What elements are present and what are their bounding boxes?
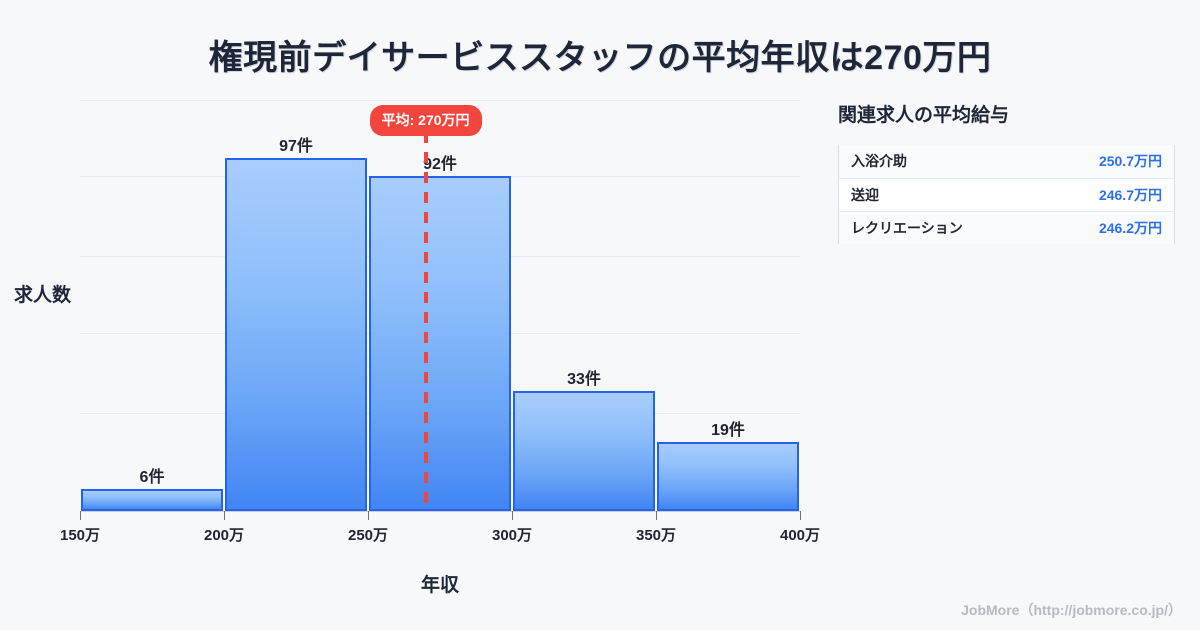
x-axis-tick	[224, 511, 225, 520]
plot-area: 6件97件92件33件19件	[80, 100, 800, 511]
salary-row-value: 246.7万円	[1043, 178, 1174, 211]
x-axis-tick	[800, 511, 801, 520]
x-axis-tick-label: 350万	[636, 524, 676, 545]
x-axis-line	[80, 511, 800, 512]
histogram-bar[interactable]	[657, 442, 799, 511]
bar-value-label: 19件	[711, 416, 745, 440]
salary-row-name: レクリエーション	[839, 211, 1044, 244]
x-axis-tick	[80, 511, 81, 520]
table-row[interactable]: 送迎246.7万円	[839, 178, 1175, 211]
related-salary-table: 入浴介助250.7万円送迎246.7万円レクリエーション246.2万円	[838, 145, 1175, 244]
average-marker-badge: 平均: 270万円	[370, 105, 482, 136]
x-axis-tick	[512, 511, 513, 520]
salary-row-value: 246.2万円	[1043, 211, 1174, 244]
related-salary-panel: 関連求人の平均給与 入浴介助250.7万円送迎246.7万円レクリエーション24…	[838, 100, 1178, 244]
histogram-chart: 6件97件92件33件19件 150万200万250万300万350万400万 …	[0, 0, 830, 630]
salary-row-name: 送迎	[839, 178, 1044, 211]
bar-value-label: 92件	[423, 150, 457, 174]
footer-watermark: JobMore（http://jobmore.co.jp/）	[961, 600, 1182, 620]
x-axis-tick-label: 400万	[780, 524, 820, 545]
histogram-bar[interactable]	[369, 176, 511, 511]
bar-value-label: 33件	[567, 365, 601, 389]
gridline	[80, 100, 800, 101]
bar-value-label: 97件	[279, 132, 313, 156]
histogram-bar[interactable]	[81, 489, 223, 511]
x-axis-tick-label: 300万	[492, 524, 532, 545]
salary-row-name: 入浴介助	[839, 145, 1044, 178]
table-row[interactable]: 入浴介助250.7万円	[839, 145, 1175, 178]
y-axis-title: 求人数	[14, 280, 71, 307]
histogram-bar[interactable]	[225, 158, 367, 511]
x-axis-tick	[368, 511, 369, 520]
x-axis-title: 年収	[80, 570, 800, 597]
x-axis-tick-label: 200万	[204, 524, 244, 545]
bar-value-label: 6件	[140, 463, 165, 487]
related-salary-title: 関連求人の平均給与	[838, 100, 1178, 127]
x-axis-tick-label: 250万	[348, 524, 388, 545]
salary-row-value: 250.7万円	[1043, 145, 1174, 178]
histogram-bar[interactable]	[513, 391, 655, 511]
x-axis-tick-label: 150万	[60, 524, 100, 545]
x-axis-tick	[656, 511, 657, 520]
table-row[interactable]: レクリエーション246.2万円	[839, 211, 1175, 244]
average-marker-line	[424, 132, 428, 511]
